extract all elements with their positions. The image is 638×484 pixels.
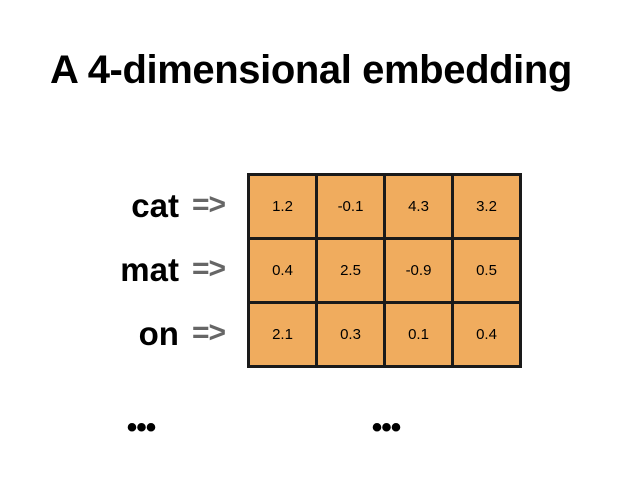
- word-label-on: on: [139, 317, 179, 350]
- embedding-matrix: 1.2 -0.1 4.3 3.2 0.4 2.5 -0.9 0.5 2.1 0.…: [247, 173, 522, 368]
- label-row-cat: cat =>: [20, 173, 225, 237]
- label-row-on: on =>: [20, 301, 225, 365]
- table-row: 0.4 2.5 -0.9 0.5: [249, 239, 521, 303]
- ellipsis-vectors: •••: [372, 413, 401, 443]
- table-row: 1.2 -0.1 4.3 3.2: [249, 175, 521, 239]
- arrow-icon-cat: =>: [192, 190, 225, 220]
- matrix-cell: 1.2: [249, 175, 317, 239]
- matrix-cell: -0.1: [317, 175, 385, 239]
- matrix-cell: 2.1: [249, 303, 317, 367]
- matrix-cell: 0.4: [453, 303, 521, 367]
- matrix-cell: 4.3: [385, 175, 453, 239]
- word-label-cat: cat: [131, 189, 179, 222]
- matrix-cell: 0.3: [317, 303, 385, 367]
- ellipsis-words: •••: [127, 413, 156, 443]
- matrix-cell: -0.9: [385, 239, 453, 303]
- table-row: 2.1 0.3 0.1 0.4: [249, 303, 521, 367]
- matrix-cell: 3.2: [453, 175, 521, 239]
- matrix-cell: 0.4: [249, 239, 317, 303]
- word-label-mat: mat: [120, 253, 179, 286]
- matrix-cell: 2.5: [317, 239, 385, 303]
- arrow-icon-mat: =>: [192, 254, 225, 284]
- slide-canvas: A 4-dimensional embedding cat => mat => …: [0, 0, 638, 484]
- label-row-mat: mat =>: [20, 237, 225, 301]
- embedding-row-labels: cat => mat => on =>: [20, 173, 225, 365]
- page-title: A 4-dimensional embedding: [50, 46, 610, 94]
- matrix-cell: 0.5: [453, 239, 521, 303]
- matrix-cell: 0.1: [385, 303, 453, 367]
- arrow-icon-on: =>: [192, 318, 225, 348]
